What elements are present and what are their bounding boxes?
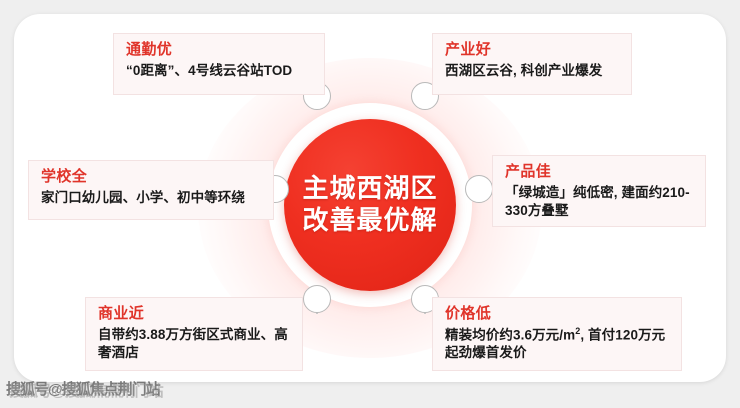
info-card-industry[interactable]: 产业好 西湖区云谷, 科创产业爆发: [432, 33, 632, 95]
info-card-price-body: 精装均价约3.6万元/m2, 首付120万元起劲爆首发价: [445, 326, 671, 362]
info-card-commute-body: “0距离”、4号线云谷站TOD: [126, 62, 314, 80]
info-card-school-title: 学校全: [41, 168, 263, 187]
center-hub: 主城西湖区 改善最优解: [284, 119, 456, 291]
info-card-price[interactable]: 价格低 精装均价约3.6万元/m2, 首付120万元起劲爆首发价: [432, 297, 682, 371]
info-card-business-body: 自带约3.88万方街区式商业、高奢酒店: [98, 326, 292, 362]
connector-node-business[interactable]: [303, 285, 331, 313]
info-card-business[interactable]: 商业近 自带约3.88万方街区式商业、高奢酒店: [85, 297, 303, 371]
info-card-school-body: 家门口幼儿园、小学、初中等环绕: [41, 189, 263, 207]
info-card-product[interactable]: 产品佳 「绿城造」纯低密, 建面约210-330方叠墅: [492, 155, 706, 227]
info-card-business-title: 商业近: [98, 305, 292, 324]
info-card-product-title: 产品佳: [505, 163, 695, 182]
info-card-commute-title: 通勤优: [126, 41, 314, 60]
infographic-canvas: 主城西湖区 改善最优解 通勤优 “0距离”、4号线云谷站TOD 产业好 西湖区云…: [0, 0, 740, 408]
connector-node-product[interactable]: [465, 175, 493, 203]
watermark-ghost-text: 搜狐号@搜狐焦点荆门站: [9, 380, 163, 401]
watermark: 搜狐号@搜狐焦点荆门站 搜狐号@搜狐焦点荆门站: [6, 378, 160, 399]
info-card-product-body: 「绿城造」纯低密, 建面约210-330方叠墅: [505, 184, 695, 220]
info-card-industry-body: 西湖区云谷, 科创产业爆发: [445, 62, 621, 80]
info-card-industry-title: 产业好: [445, 41, 621, 60]
info-card-price-title: 价格低: [445, 305, 671, 324]
info-card-school[interactable]: 学校全 家门口幼儿园、小学、初中等环绕: [28, 160, 274, 220]
hub-line-2: 改善最优解: [302, 205, 437, 237]
hub-line-1: 主城西湖区: [302, 173, 437, 205]
info-card-price-body-pre: 精装均价约3.6万元/m: [445, 327, 575, 342]
info-card-commute[interactable]: 通勤优 “0距离”、4号线云谷站TOD: [113, 33, 325, 95]
